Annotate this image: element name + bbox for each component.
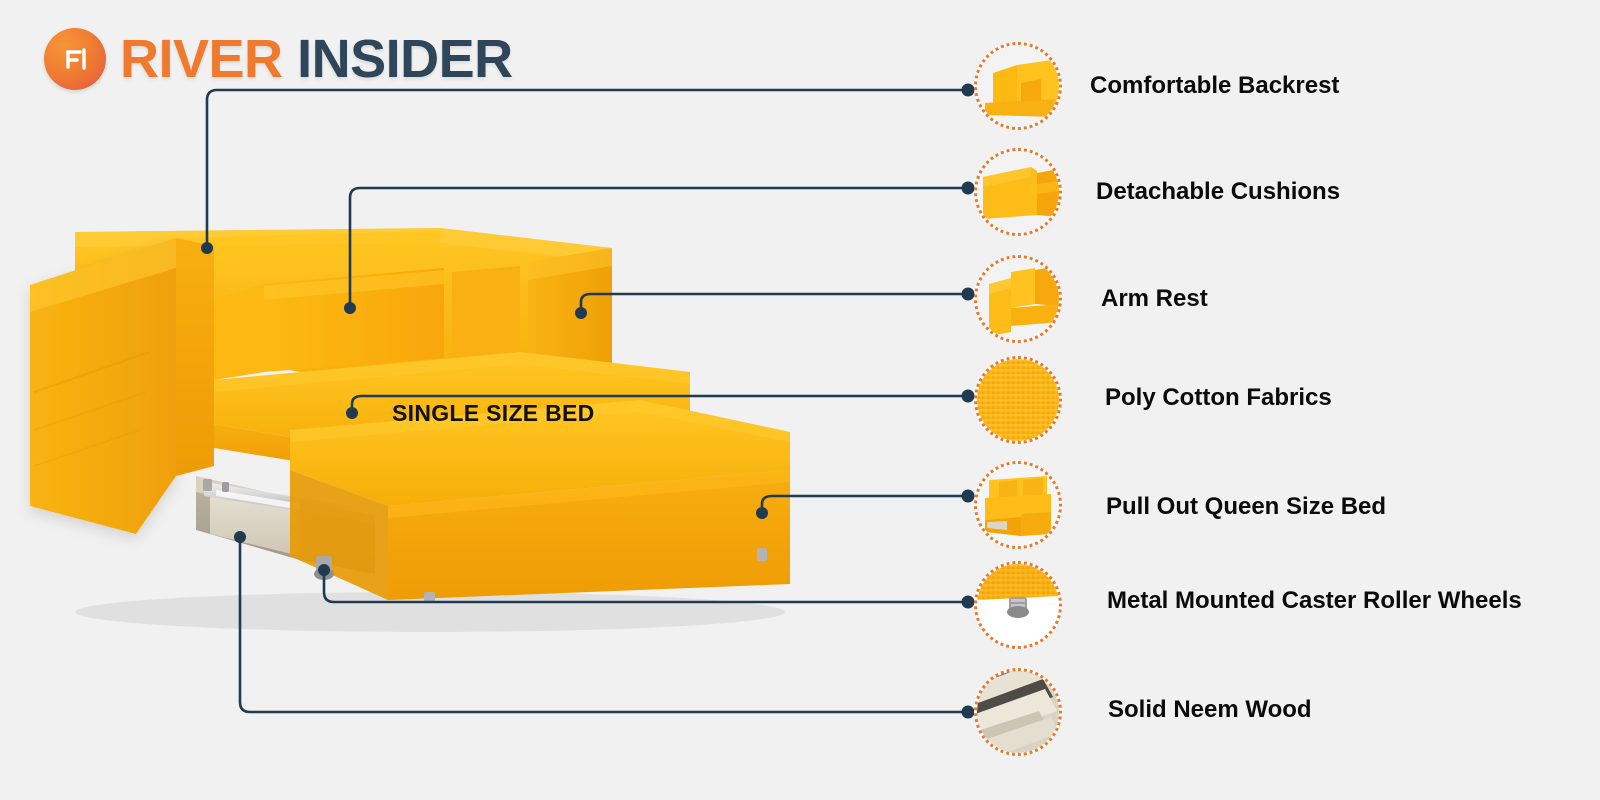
feature-label-pull-out-queen-size-bed: Pull Out Queen Size Bed [1106, 495, 1386, 519]
connector-enddot-wood [962, 706, 975, 719]
feature-label-poly-cotton-fabrics: Poly Cotton Fabrics [1105, 386, 1332, 410]
infographic-canvas: RIVER INSIDER [0, 0, 1600, 800]
connector-enddot-backrest [962, 84, 975, 97]
armrest-thumbnail [977, 258, 1059, 340]
badge-pull-out-queen-size-bed[interactable] [974, 461, 1062, 549]
connector-dot-caster [318, 564, 330, 576]
feature-label-metal-mounted-caster-roller-wheels: Metal Mounted Caster Roller Wheels [1107, 589, 1522, 613]
connector-dot-fabric [346, 407, 358, 419]
badge-solid-neem-wood[interactable] [974, 668, 1062, 756]
connector-dot-cushions [344, 302, 356, 314]
feature-label-arm-rest: Arm Rest [1101, 287, 1208, 311]
badge-detachable-cushions[interactable] [974, 148, 1062, 236]
connector-poly-cotton-fabrics [352, 396, 966, 413]
connector-dot-backrest [201, 242, 213, 254]
feature-label-detachable-cushions: Detachable Cushions [1096, 180, 1340, 204]
connector-dot-pullout [756, 507, 768, 519]
connector-arm-rest [581, 294, 966, 313]
connector-caster-roller-wheels [324, 570, 966, 602]
caster-wheel-thumbnail [977, 564, 1059, 646]
cushion-thumbnail [977, 151, 1059, 233]
connector-enddot-fabric [962, 390, 975, 403]
callout-connectors [0, 0, 1600, 800]
connector-enddot-pullout [962, 490, 975, 503]
badge-arm-rest[interactable] [974, 255, 1062, 343]
backrest-thumbnail [977, 45, 1059, 127]
fabric-weave-thumbnail [977, 359, 1059, 441]
wood-slats-thumbnail [977, 671, 1059, 753]
connector-solid-neem-wood [240, 537, 966, 712]
connector-dot-armrest [575, 307, 587, 319]
badge-poly-cotton-fabrics[interactable] [974, 356, 1062, 444]
badge-comfortable-backrest[interactable] [974, 42, 1062, 130]
connector-enddot-armrest [962, 288, 975, 301]
connector-enddot-cushions [962, 182, 975, 195]
badge-metal-mounted-caster-roller-wheels[interactable] [974, 561, 1062, 649]
connector-comfortable-backrest [207, 90, 966, 248]
feature-label-comfortable-backrest: Comfortable Backrest [1090, 74, 1339, 98]
pullout-bed-thumbnail [977, 464, 1059, 546]
connector-enddot-caster [962, 596, 975, 609]
feature-label-solid-neem-wood: Solid Neem Wood [1108, 698, 1312, 722]
connector-pull-out-queen-size-bed [762, 496, 966, 513]
connector-detachable-cushions [350, 188, 966, 308]
connector-dot-wood [234, 531, 246, 543]
